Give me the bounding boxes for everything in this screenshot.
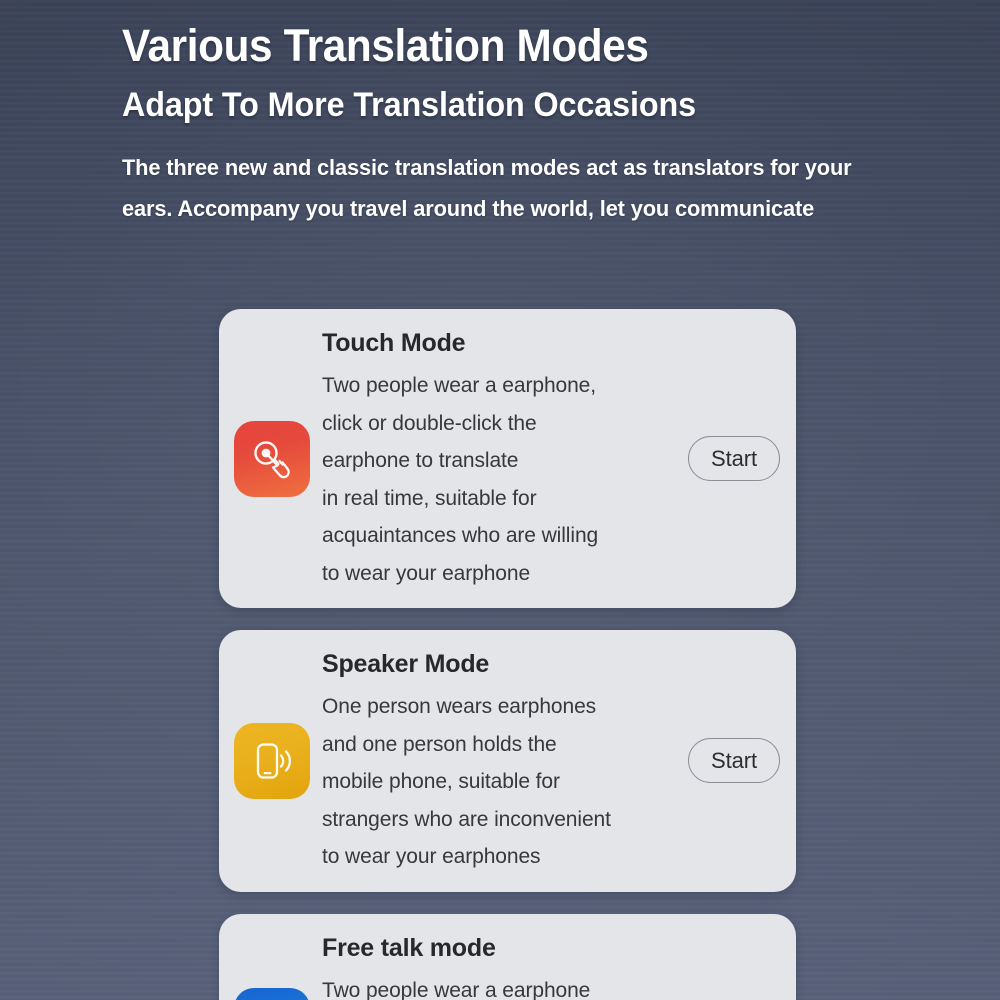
card-description: Two people wear a earphone, click or dou… bbox=[322, 367, 680, 592]
card-body: Touch Mode Two people wear a earphone, c… bbox=[313, 325, 680, 592]
card-action: Start bbox=[680, 738, 782, 783]
card-body: Speaker Mode One person wears earphones … bbox=[313, 646, 680, 876]
card-body: Free talk mode Two people wear a earphon… bbox=[313, 930, 680, 1000]
card-title: Speaker Mode bbox=[322, 648, 680, 680]
card-icon-container bbox=[231, 988, 313, 1000]
card-description: Two people wear a earphone each, transla… bbox=[322, 972, 680, 1000]
promo-page: Various Translation Modes Adapt To More … bbox=[0, 0, 1000, 1000]
start-button-touch[interactable]: Start bbox=[688, 436, 780, 481]
mode-card-touch[interactable]: Touch Mode Two people wear a earphone, c… bbox=[219, 309, 796, 608]
mode-card-speaker[interactable]: Speaker Mode One person wears earphones … bbox=[219, 630, 796, 892]
card-action: Start bbox=[680, 436, 782, 481]
mode-card-list: Touch Mode Two people wear a earphone, c… bbox=[219, 309, 796, 1000]
header: Various Translation Modes Adapt To More … bbox=[122, 16, 912, 229]
phone-sound-waves-icon bbox=[234, 723, 310, 799]
page-subtitle: Adapt To More Translation Occasions bbox=[122, 83, 873, 127]
card-description: One person wears earphones and one perso… bbox=[322, 688, 680, 876]
card-title: Free talk mode bbox=[322, 932, 680, 964]
start-button-speaker[interactable]: Start bbox=[688, 738, 780, 783]
card-icon-container bbox=[231, 723, 313, 799]
mode-card-free-talk[interactable]: Free talk mode Two people wear a earphon… bbox=[219, 914, 796, 1000]
page-title: Various Translation Modes bbox=[122, 16, 865, 76]
globe-icon bbox=[234, 988, 310, 1000]
card-icon-container bbox=[231, 421, 313, 497]
card-title: Touch Mode bbox=[322, 327, 680, 359]
page-description: The three new and classic translation mo… bbox=[122, 147, 888, 229]
touch-hand-tap-icon bbox=[234, 421, 310, 497]
